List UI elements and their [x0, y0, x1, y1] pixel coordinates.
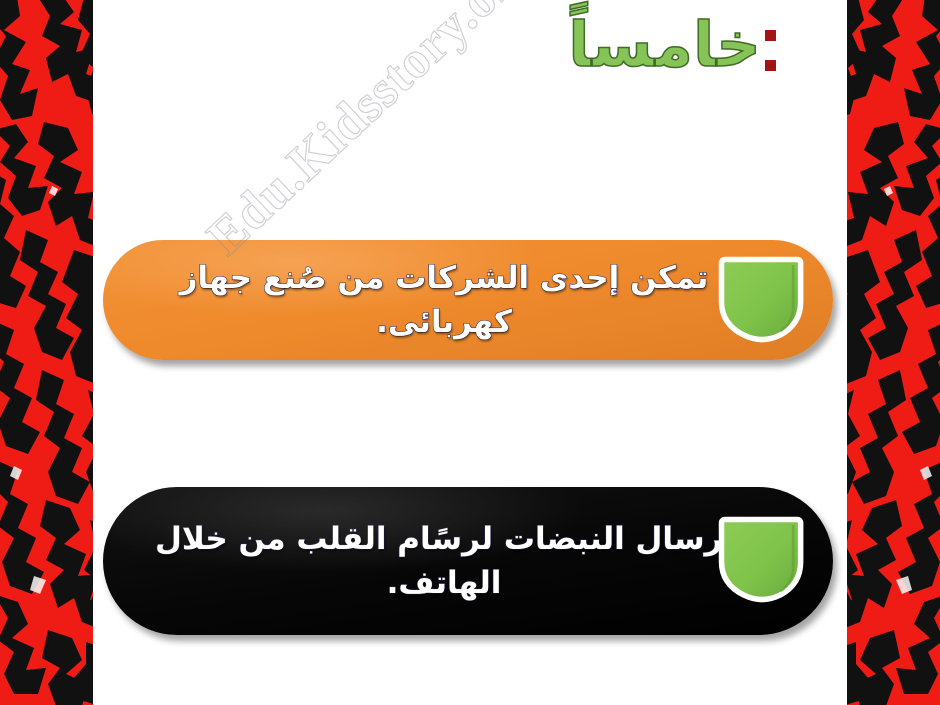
shield-shape: [716, 254, 808, 346]
right-decorative-border: [842, 0, 940, 705]
left-decorative-border: [0, 0, 98, 705]
right-border-inner-edge: [842, 0, 847, 705]
slide-canvas: Edu.Kidsstory.org خامساً تمكن إحدى الشرك…: [0, 0, 940, 705]
crackle-pattern-icon: [842, 0, 940, 705]
black-banner[interactable]: إرسال النبضات لرسًام القلب من خلال الهات…: [103, 487, 833, 635]
colon-square-top: [765, 30, 776, 41]
title-colon-marks: [765, 30, 776, 71]
shield-shape: [716, 514, 808, 606]
green-shield-icon: [716, 254, 808, 346]
orange-banner[interactable]: تمكن إحدى الشركات من صُنع جهاز كهربائى.: [103, 240, 833, 360]
crackle-pattern-icon: [0, 0, 98, 705]
watermark: Edu.Kidsstory.org: [196, 0, 547, 267]
left-border-inner-edge: [93, 0, 98, 705]
green-shield-icon: [716, 514, 808, 606]
title-text: خامساً: [568, 14, 761, 76]
colon-square-bottom: [765, 60, 776, 71]
page-title: خامساً: [568, 14, 780, 76]
